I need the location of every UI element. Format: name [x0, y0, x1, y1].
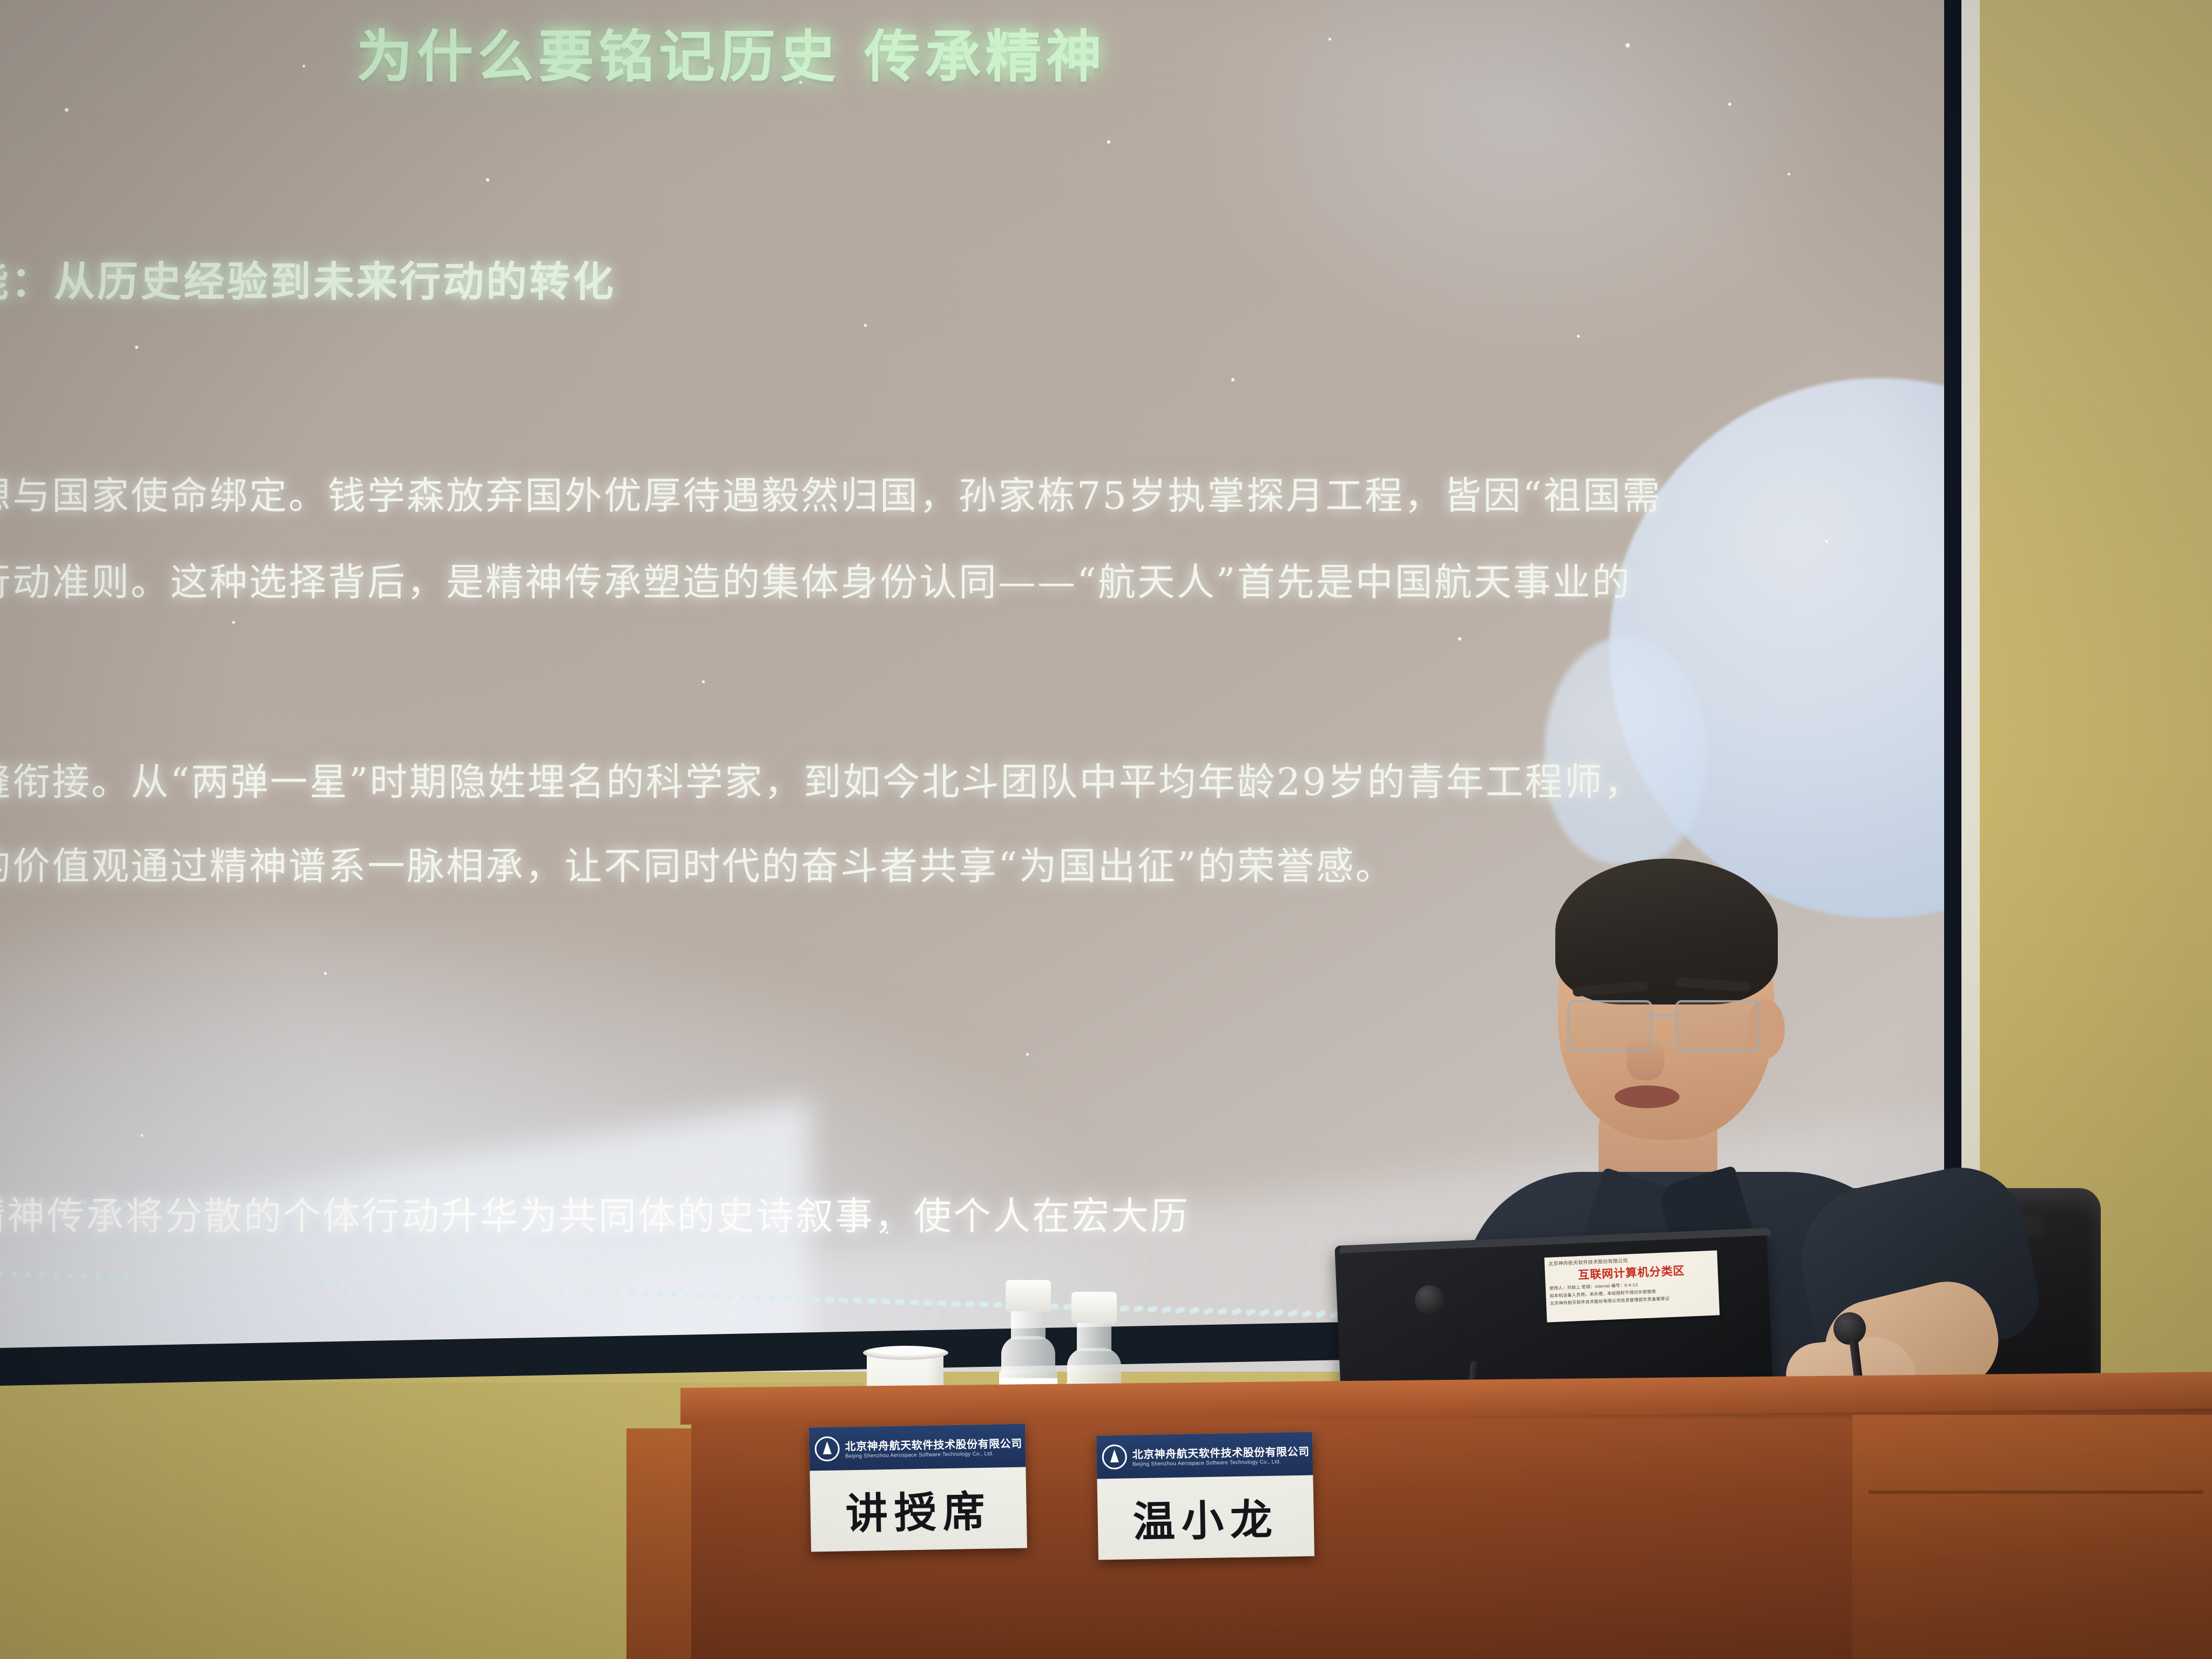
bottle-neck [1011, 1311, 1046, 1339]
desk-panel-groove [1869, 1491, 2203, 1494]
slide-body-line-2: 行动准则。这种选择背后，是精神传承塑造的集体身份认同——“航天人”首先是中国航天… [0, 552, 1631, 606]
slide-body-line-3: 缝衔接。从“两弹一星”时期隐姓埋名的科学家，到如今北斗团队中平均年龄29岁的青年… [0, 752, 1643, 806]
slide-title: 为什么要铭记历史 传承精神 [356, 11, 1106, 92]
nameplate-company-block: 北京神舟航天软件技术股份有限公司 Beijing Shenzhou Aerosp… [1132, 1443, 1310, 1468]
bottle-cap [1006, 1280, 1051, 1312]
slide-body-line-1: 想与国家使命绑定。钱学森放弃国外优厚待遇毅然归国，孙家栋75岁执掌探月工程，皆因… [0, 466, 1662, 520]
eyeglasses [1567, 1000, 1772, 1052]
speaker-mouth [1615, 1085, 1680, 1108]
nameplate-name: 讲授席 [810, 1467, 1027, 1552]
screenshot-root: 为什么要铭记历史 传承精神 能：从历史经验到未来行动的转化 想与国家使命绑定。钱… [0, 0, 2212, 1659]
bottle-shoulder [1001, 1336, 1055, 1374]
eyeglass-lens-right [1675, 1000, 1761, 1052]
nameplate-speaker: 北京神舟航天软件技术股份有限公司 Beijing Shenzhou Aerosp… [1096, 1432, 1314, 1560]
bottle-shoulder [1067, 1348, 1121, 1386]
nameplate-name: 温小龙 [1097, 1475, 1314, 1560]
speaker-nose [1627, 1037, 1664, 1080]
bottle-neck [1077, 1323, 1111, 1351]
desk-right-section [1852, 1415, 2212, 1659]
microphone-head-right [1833, 1312, 1866, 1345]
nameplate-header: 北京神舟航天软件技术股份有限公司 Beijing Shenzhou Aerosp… [1096, 1432, 1313, 1479]
company-logo-icon [814, 1437, 840, 1462]
eyeglass-bridge [1648, 1014, 1676, 1017]
nameplate-lecturer: 北京神舟航天软件技术股份有限公司 Beijing Shenzhou Aerosp… [809, 1424, 1027, 1552]
nameplate-header: 北京神舟航天软件技术股份有限公司 Beijing Shenzhou Aerosp… [809, 1424, 1026, 1471]
laptop-asset-sticker: 北京神舟航天软件技术股份有限公司 互联网计算机分类区 使用人：刘勃上 密级：in… [1545, 1250, 1720, 1322]
slide-subtitle: 能：从历史经验到未来行动的转化 [0, 248, 616, 308]
company-logo-icon [1102, 1445, 1127, 1470]
slide-body-line-4: 的价值观通过精神谱系一脉相承，让不同时代的奋斗者共享“为国出征”的荣誉感。 [0, 836, 1395, 891]
microphone-head-left [1415, 1285, 1444, 1314]
paper-cup-rim [863, 1346, 948, 1360]
bottle-cap [1071, 1292, 1117, 1324]
slide-body-footer-line: 精神传承将分散的个体行动升华为共同体的史诗叙事，使个人在宏大历 [0, 1186, 1190, 1240]
nameplate-company-block: 北京神舟航天软件技术股份有限公司 Beijing Shenzhou Aerosp… [845, 1435, 1022, 1460]
